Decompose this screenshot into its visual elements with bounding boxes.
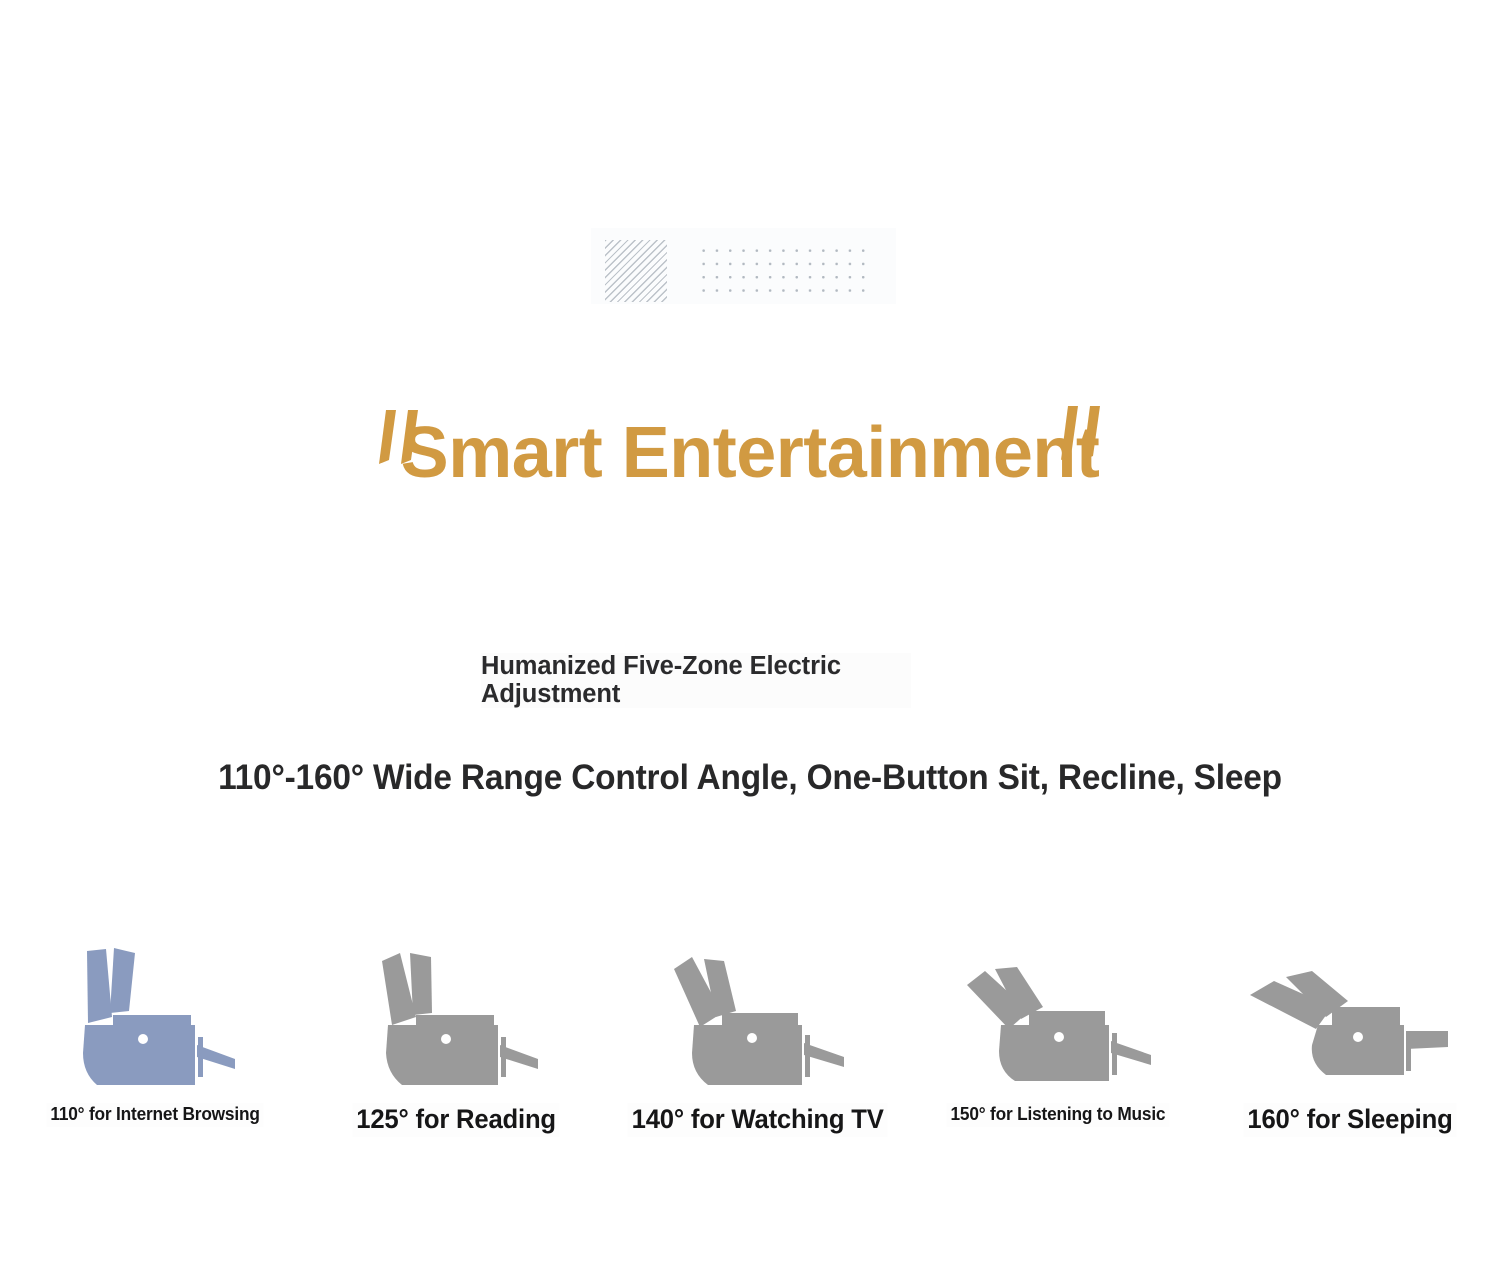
open-quote-icon <box>372 408 428 470</box>
diagonal-hatch-pattern-icon <box>605 240 667 302</box>
recliner-chair-icon <box>306 940 606 1095</box>
recliner-chair-icon <box>5 940 305 1095</box>
recline-position-item: 125° for Reading <box>306 940 606 1170</box>
dot-grid-pattern-icon <box>695 242 867 294</box>
recline-positions-row: 110° for Internet Browsing 125° for Read… <box>0 940 1500 1170</box>
recline-position-item: 150° for Listening to Music <box>908 940 1208 1170</box>
recline-position-label: 150° for Listening to Music <box>947 1103 1170 1127</box>
recline-position-label: 140° for Watching TV <box>628 1103 888 1137</box>
recliner-chair-icon <box>1200 940 1500 1095</box>
tagline-text: 110°-160° Wide Range Control Angle, One-… <box>34 758 1467 798</box>
recline-position-label: 160° for Sleeping <box>1244 1103 1457 1137</box>
recline-position-label: 125° for Reading <box>352 1103 559 1137</box>
subtitle-text: Humanized Five-Zone Electric Adjustment <box>481 653 911 708</box>
decorative-pattern-band <box>591 228 896 304</box>
headline-block: Smart Entertainment <box>0 395 1500 530</box>
page-title: Smart Entertainment <box>401 417 1100 489</box>
recline-position-label: 110° for Internet Browsing <box>46 1103 263 1127</box>
recliner-chair-icon <box>608 940 908 1095</box>
recliner-chair-icon-wrap: 140° for Watching TV <box>608 940 908 1170</box>
close-quote-icon <box>1056 404 1112 466</box>
recline-position-item: 160° for Sleeping <box>1200 940 1500 1170</box>
recliner-chair-icon <box>908 940 1208 1095</box>
recline-position-item: 110° for Internet Browsing <box>5 940 305 1170</box>
